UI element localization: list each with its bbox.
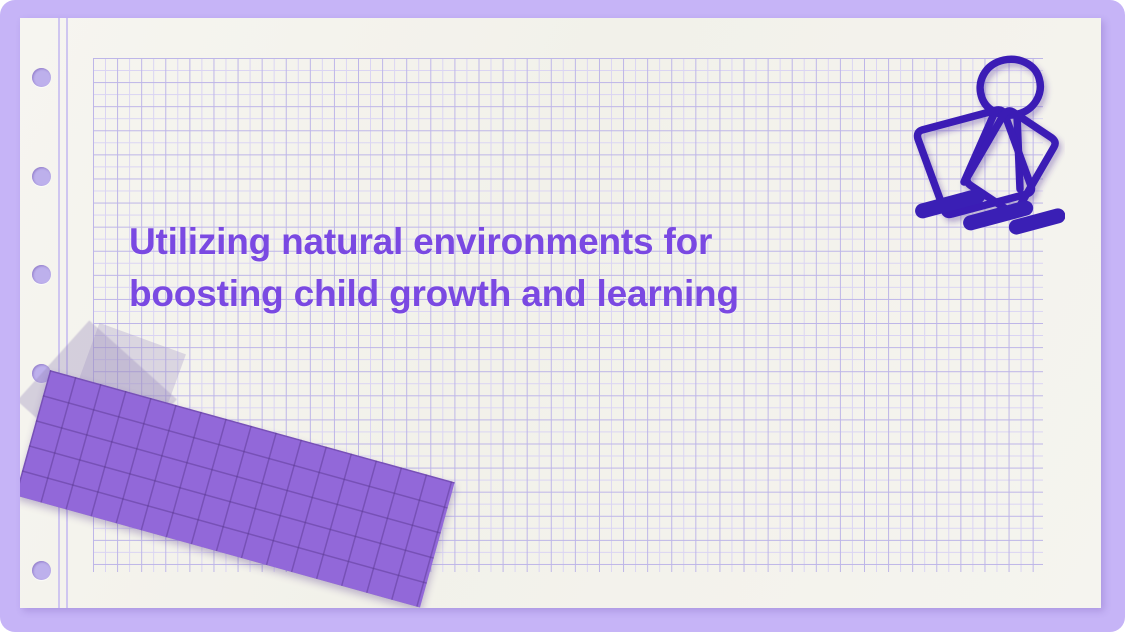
margin-rule-line-2 xyxy=(66,18,68,608)
punch-hole-3 xyxy=(32,265,51,284)
binder-clip-icon xyxy=(900,26,1065,238)
punch-hole-2 xyxy=(32,167,51,186)
slide-title: Utilizing natural environments for boost… xyxy=(129,216,919,320)
clip-wire-loop xyxy=(980,59,1040,115)
notebook-paper-sheet: Utilizing natural environments for boost… xyxy=(20,18,1101,608)
slide-canvas: Utilizing natural environments for boost… xyxy=(0,0,1125,632)
punch-hole-6 xyxy=(32,561,51,580)
punch-hole-1 xyxy=(32,68,51,87)
margin-rule-line-1 xyxy=(58,18,60,608)
